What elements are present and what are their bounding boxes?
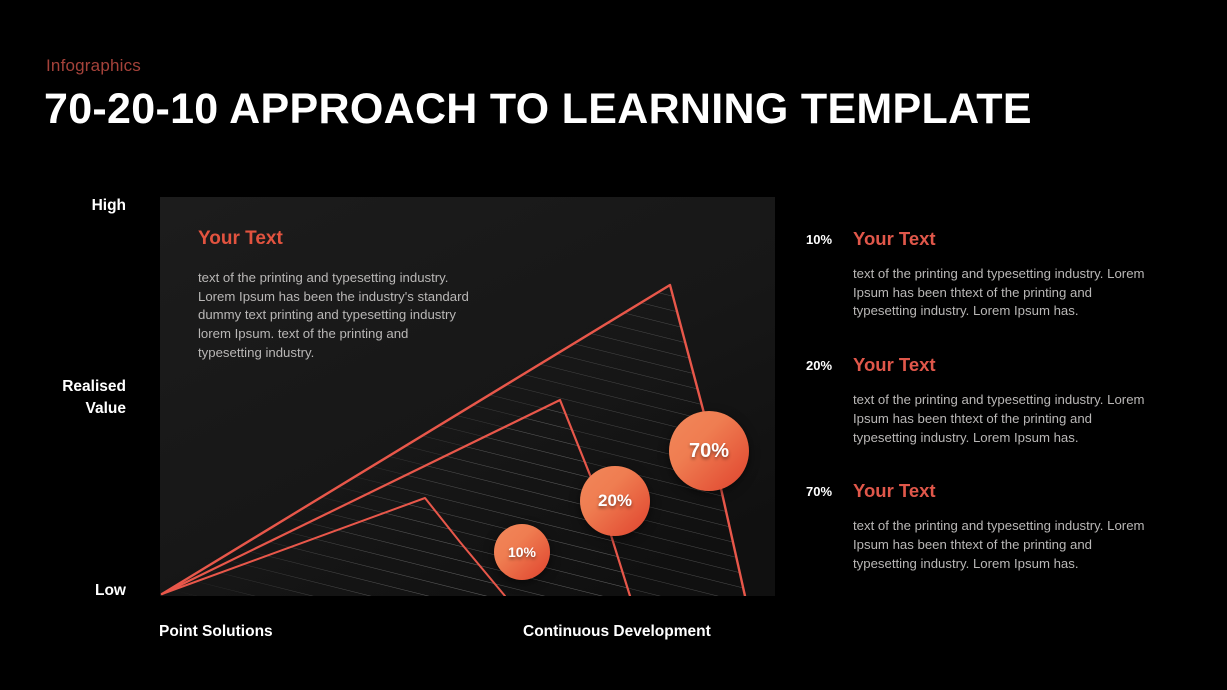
- bubble-70-percent[interactable]: 70%: [669, 411, 749, 491]
- y-axis-label-line1: Realised: [20, 376, 126, 398]
- list-item: 20% Your Text text of the printing and t…: [795, 354, 1195, 447]
- bubble-70-label: 70%: [689, 440, 729, 463]
- slide-canvas: Infographics 70-20-10 APPROACH TO LEARNI…: [0, 0, 1227, 690]
- kicker-label: Infographics: [46, 56, 141, 76]
- detail-body: text of the printing and typesetting ind…: [853, 391, 1150, 447]
- bubble-10-label: 10%: [508, 544, 536, 560]
- x-axis-label-point-solutions: Point Solutions: [159, 623, 273, 641]
- panel-body-text: text of the printing and typesetting ind…: [198, 269, 470, 363]
- bubble-10-percent[interactable]: 10%: [494, 524, 550, 580]
- details-list: 10% Your Text text of the printing and t…: [795, 228, 1195, 607]
- y-axis-label-low: Low: [20, 580, 126, 602]
- list-item: 70% Your Text text of the printing and t…: [795, 480, 1195, 573]
- detail-body: text of the printing and typesetting ind…: [853, 517, 1150, 573]
- detail-heading: Your Text: [853, 228, 1195, 250]
- page-title: 70-20-10 APPROACH TO LEARNING TEMPLATE: [44, 85, 1032, 134]
- detail-percent-badge: 10%: [806, 232, 832, 247]
- detail-body: text of the printing and typesetting ind…: [853, 265, 1150, 321]
- list-item: 10% Your Text text of the printing and t…: [795, 228, 1195, 321]
- panel-heading: Your Text: [198, 228, 283, 250]
- bubble-20-percent[interactable]: 20%: [580, 466, 650, 536]
- detail-percent-badge: 20%: [806, 358, 832, 373]
- detail-heading: Your Text: [853, 480, 1195, 502]
- bubble-20-label: 20%: [598, 491, 632, 511]
- y-axis-label-high: High: [20, 195, 126, 217]
- y-axis-label-line2: Value: [20, 398, 126, 420]
- detail-percent-badge: 70%: [806, 484, 832, 499]
- detail-heading: Your Text: [853, 354, 1195, 376]
- x-axis-label-continuous-development: Continuous Development: [523, 623, 711, 641]
- chart-graphic: [160, 197, 775, 596]
- chart-panel: Your Text text of the printing and types…: [160, 197, 775, 596]
- y-axis-label-realised-value: Realised Value: [20, 376, 126, 420]
